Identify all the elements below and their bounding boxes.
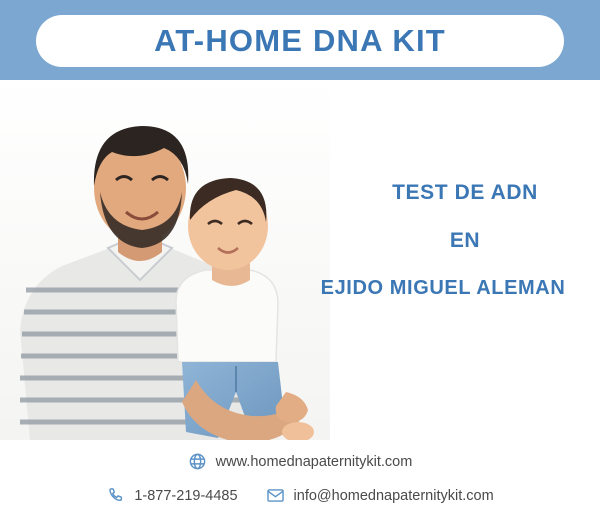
photo-illustration (0, 80, 330, 440)
footer: www.homednapaternitykit.com 1-877-219-44… (0, 440, 600, 520)
dna-kit-promo-card: AT-HOME DNA KIT (0, 0, 600, 520)
globe-icon (188, 452, 207, 471)
footer-website-item[interactable]: www.homednapaternitykit.com (188, 452, 413, 471)
footer-email-item[interactable]: info@homednapaternitykit.com (266, 486, 494, 505)
headline-line-3: EJIDO MIGUEL ALEMAN (321, 277, 566, 300)
footer-phone-item[interactable]: 1-877-219-4485 (106, 486, 237, 505)
headline-block: TEST DE ADN EN EJIDO MIGUEL ALEMAN (330, 80, 600, 440)
footer-email-text: info@homednapaternitykit.com (294, 488, 494, 504)
page-title: AT-HOME DNA KIT (154, 23, 446, 59)
headline-line-2: EN (450, 229, 480, 253)
father-holding-toddler-photo (0, 80, 330, 440)
header-pill: AT-HOME DNA KIT (36, 15, 564, 67)
headline-line-1: TEST DE ADN (392, 181, 538, 205)
content-area: TEST DE ADN EN EJIDO MIGUEL ALEMAN (0, 80, 600, 440)
footer-contact-row: 1-877-219-4485 info@homednapaternitykit.… (0, 486, 600, 505)
footer-phone-text: 1-877-219-4485 (134, 488, 237, 504)
envelope-icon (266, 486, 285, 505)
header-band: AT-HOME DNA KIT (0, 0, 600, 80)
phone-icon (106, 486, 125, 505)
footer-website-text: www.homednapaternitykit.com (216, 454, 413, 470)
footer-website-row: www.homednapaternitykit.com (0, 452, 600, 471)
